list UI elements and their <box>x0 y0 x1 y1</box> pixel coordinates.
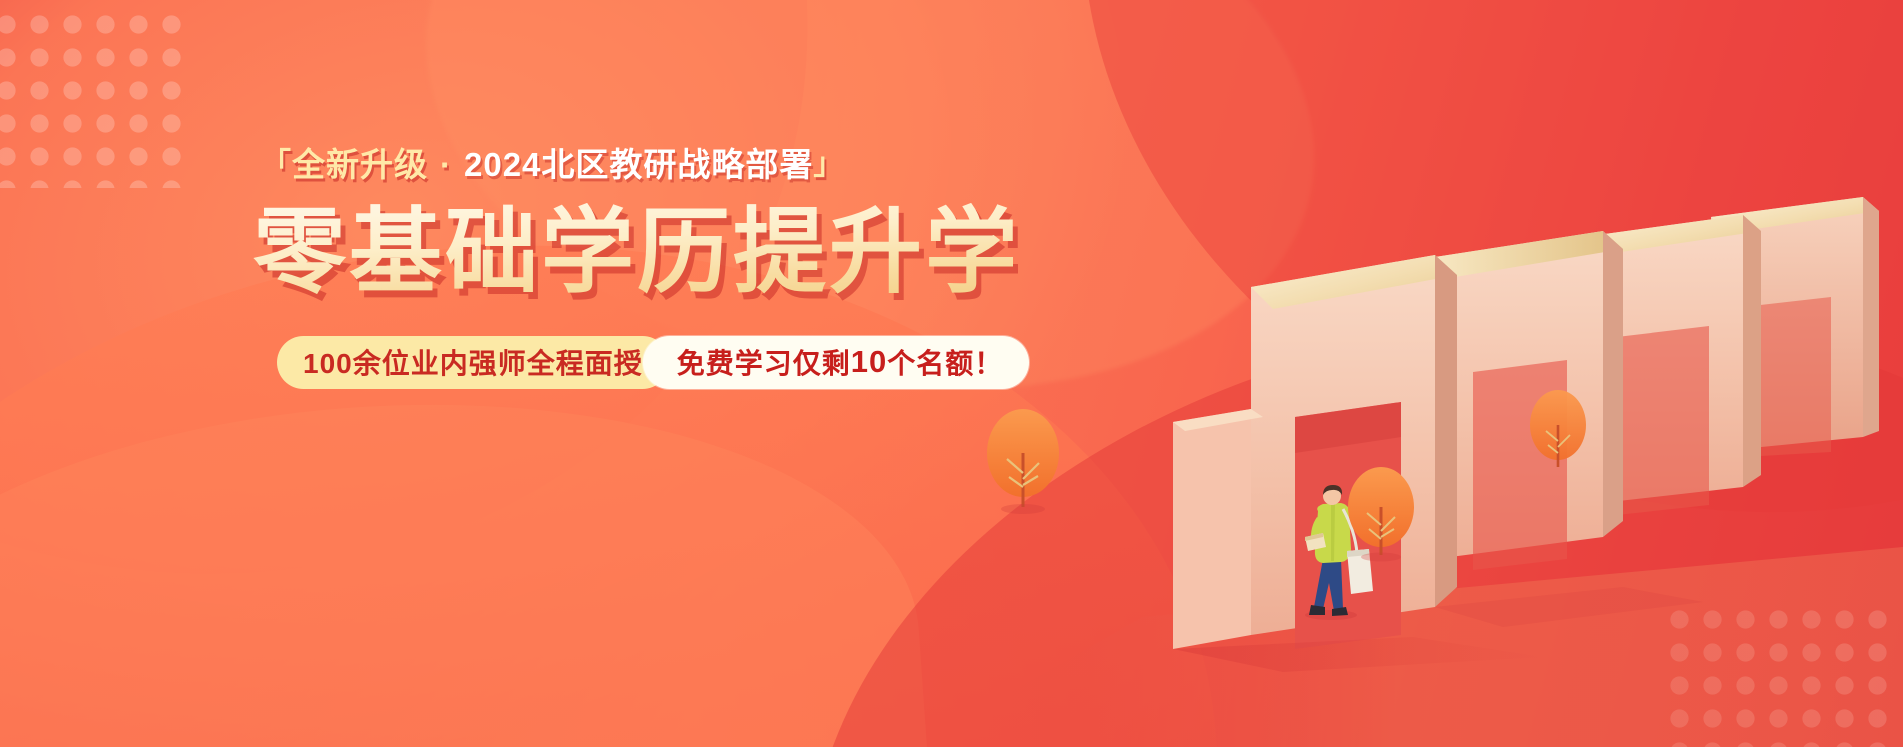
dot-grid-bottom-right-icon <box>1663 603 1893 747</box>
tree-left <box>987 409 1059 514</box>
pill-quota-suffix: 个名额！ <box>887 342 1003 382</box>
pill-quota-number: 10 <box>851 344 887 380</box>
dot-grid-top-left-icon <box>0 8 190 188</box>
bracket-close: 」 <box>813 150 844 180</box>
book-arch-1 <box>1173 255 1457 649</box>
tree-far-right <box>1530 390 1586 467</box>
banner-copy: 「全新升级·2024北区教研战略部署」 零基础学历提升学霸班 100余位业内强师… <box>253 148 1013 389</box>
arch-shadow <box>1173 637 1543 672</box>
pill-instructors: 100余位业内强师全程面授 <box>277 336 669 389</box>
student-figure <box>1305 485 1373 620</box>
eyebrow-line: 「全新升级·2024北区教研战略部署」 <box>261 148 1013 181</box>
background-wave-bottom <box>0 369 937 747</box>
tree-right <box>1348 467 1414 562</box>
promo-banner: 「全新升级·2024北区教研战略部署」 零基础学历提升学霸班 100余位业内强师… <box>0 0 1903 747</box>
eyebrow-separator: · <box>440 148 452 181</box>
book-arch-4 <box>1711 197 1879 457</box>
eyebrow-gold-text: 全新升级 <box>292 148 428 181</box>
eyebrow-white-text: 2024北区教研战略部署 <box>464 148 813 181</box>
book-arch-3 <box>1583 215 1761 515</box>
pill-quota: 免费学习仅剩10个名额！ <box>643 336 1030 389</box>
pill-quota-prefix: 免费学习仅剩 <box>677 342 851 382</box>
book-arch-2 <box>1435 231 1623 570</box>
highlight-pill-row: 100余位业内强师全程面授 免费学习仅剩10个名额！ <box>277 336 1013 389</box>
page-title: 零基础学历提升学霸班 <box>253 203 1013 302</box>
background-wave-dark-top-right <box>946 0 1903 668</box>
ground-plane <box>983 547 1903 747</box>
bracket-open: 「 <box>261 150 292 180</box>
